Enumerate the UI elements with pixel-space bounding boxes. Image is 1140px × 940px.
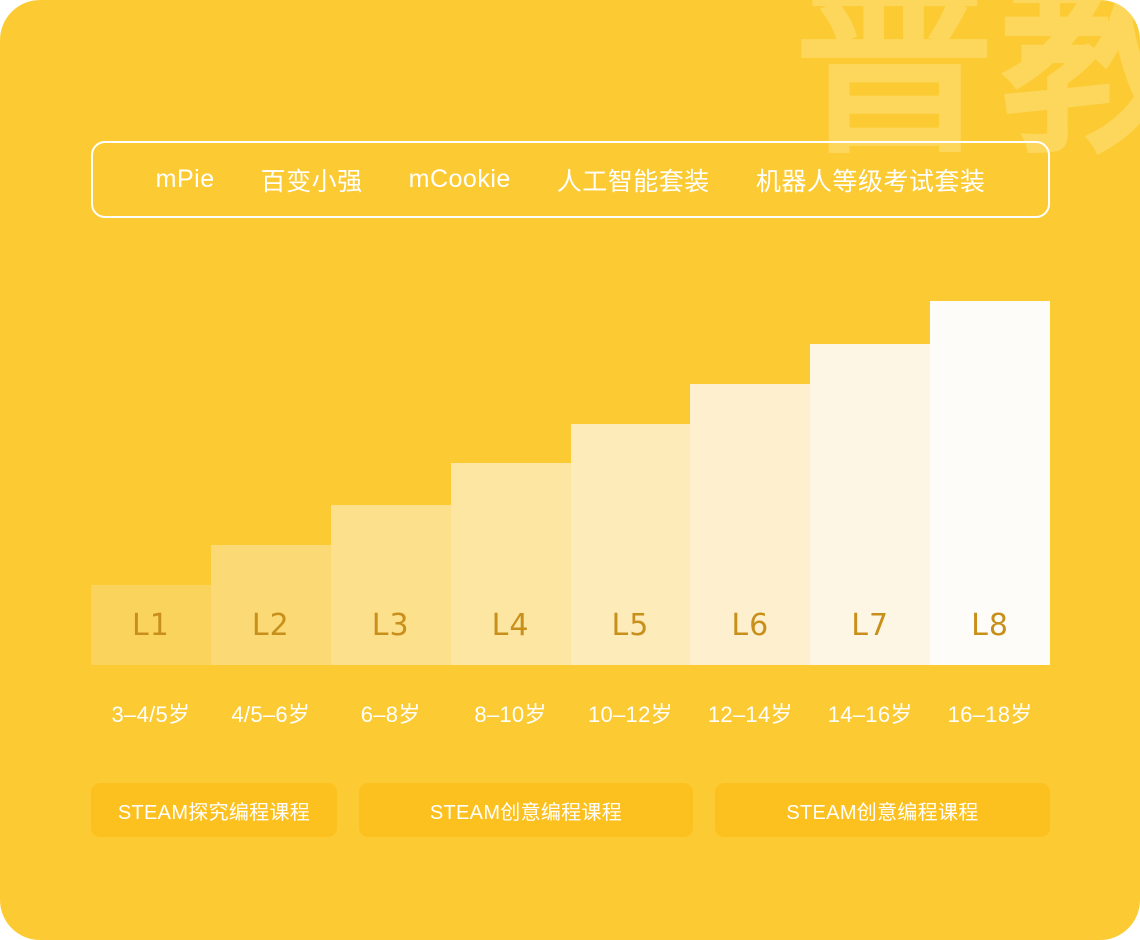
tag-item-ai-kit[interactable]: 人工智能套装 xyxy=(534,162,733,198)
chart-bar-l1[interactable]: L1 xyxy=(91,585,211,665)
bar-label-l4: L4 xyxy=(492,611,530,665)
course-button-row: STEAM探究编程课程 STEAM创意编程课程 STEAM创意编程课程 xyxy=(91,783,1050,837)
chart-bar-l2[interactable]: L2 xyxy=(211,545,331,665)
chart-bar-l3[interactable]: L3 xyxy=(331,505,451,665)
bar-label-l6: L6 xyxy=(731,611,769,665)
age-label-l3: 6–8岁 xyxy=(331,697,451,729)
age-range-axis: 3–4/5岁 4/5–6岁 6–8岁 8–10岁 10–12岁 12–14岁 1… xyxy=(91,697,1050,729)
tag-item-robot-exam-kit[interactable]: 机器人等级考试套装 xyxy=(733,162,1009,198)
tag-item-mcookie[interactable]: mCookie xyxy=(386,165,534,194)
age-label-l8: 16–18岁 xyxy=(930,697,1050,729)
age-label-l2: 4/5–6岁 xyxy=(211,697,331,729)
chart-bar-l5[interactable]: L5 xyxy=(571,424,691,665)
chart-bar-l6[interactable]: L6 xyxy=(690,384,810,665)
bar-label-l3: L3 xyxy=(372,611,410,665)
bar-label-l7: L7 xyxy=(851,611,889,665)
bar-label-l8: L8 xyxy=(971,611,1009,665)
age-label-l6: 12–14岁 xyxy=(690,697,810,729)
chart-bar-l4[interactable]: L4 xyxy=(451,463,571,665)
age-label-l7: 14–16岁 xyxy=(810,697,930,729)
product-level-card: 普教 mPie 百变小强 mCookie 人工智能套装 机器人等级考试套装 L1… xyxy=(0,0,1140,940)
chart-bar-l8[interactable]: L8 xyxy=(930,301,1050,665)
course-button-creative-2[interactable]: STEAM创意编程课程 xyxy=(715,783,1050,837)
age-label-l4: 8–10岁 xyxy=(451,697,571,729)
course-button-explore[interactable]: STEAM探究编程课程 xyxy=(91,783,337,837)
product-tag-bar: mPie 百变小强 mCookie 人工智能套装 机器人等级考试套装 xyxy=(91,141,1050,218)
tag-item-baibianxiaoqiang[interactable]: 百变小强 xyxy=(238,162,386,198)
level-bar-chart: L1 L2 L3 L4 L5 L6 L7 L8 xyxy=(91,296,1050,665)
bar-label-l1: L1 xyxy=(132,611,170,665)
bar-label-l2: L2 xyxy=(252,611,290,665)
age-label-l5: 10–12岁 xyxy=(571,697,691,729)
age-label-l1: 3–4/5岁 xyxy=(91,697,211,729)
chart-bar-l7[interactable]: L7 xyxy=(810,344,930,665)
bar-label-l5: L5 xyxy=(612,611,650,665)
course-button-creative-1[interactable]: STEAM创意编程课程 xyxy=(359,783,693,837)
tag-item-mpie[interactable]: mPie xyxy=(133,165,238,194)
